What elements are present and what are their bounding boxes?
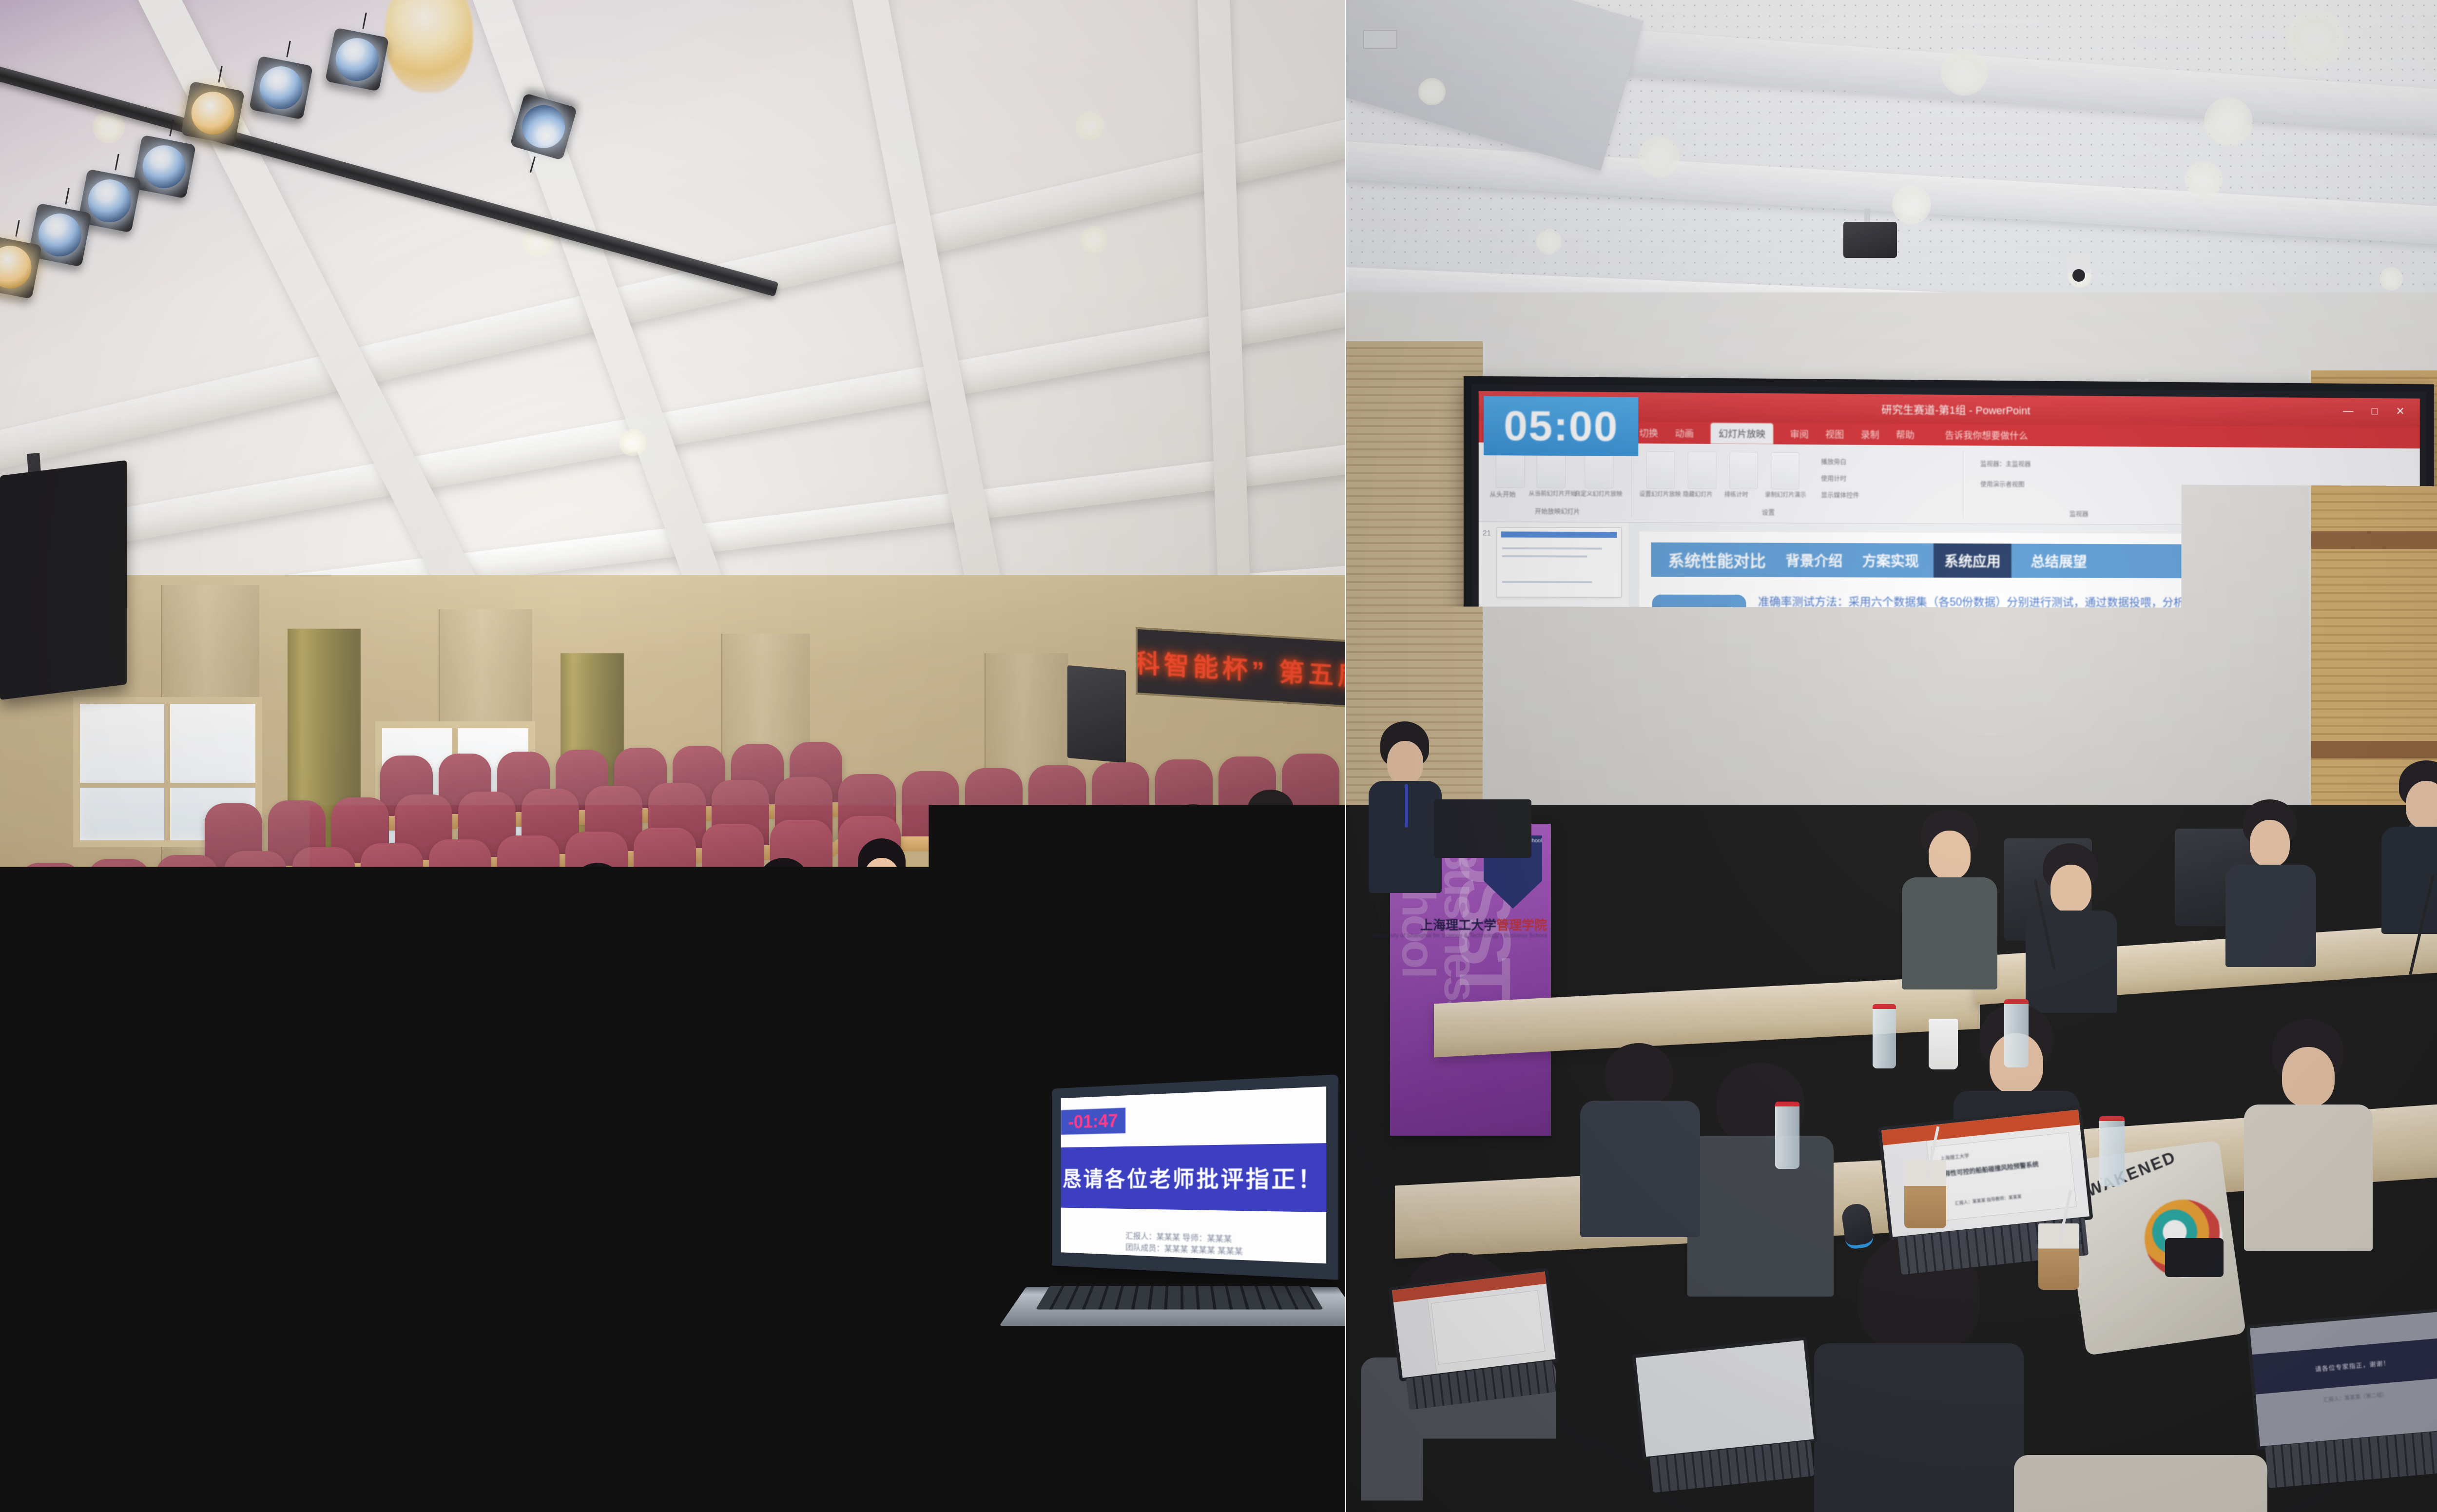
btn-from-current[interactable] (1537, 451, 1566, 488)
ceiling-vent (1363, 30, 1397, 49)
label-setup-show: 设置幻灯片放映 (1639, 490, 1681, 499)
ceiling-downlight (1536, 229, 1562, 254)
led-scrolling-banner: “电科智能杯” 第五届上 (1136, 627, 1345, 708)
btn-custom-show[interactable] (1585, 451, 1613, 488)
laptop-screen[interactable]: -01:47 恳请各位老师批评指正！ 汇报人：某某某 导师：某某某 团队成员：某… (1061, 1086, 1326, 1263)
check-play-narration[interactable]: 播放旁白 (1821, 456, 1846, 465)
paragraph-body: 采用六个数据集（各50份数据）分别进行测试，通过数据投喂，分析回答结果并计算出准… (1758, 596, 2382, 627)
paragraph-highlight: 准确率提升35%。 (2132, 614, 2221, 627)
svg-text:20%: 20% (2069, 814, 2083, 820)
svg-text:70%: 70% (2069, 725, 2083, 732)
slide-headline-band: 恳请各位老师批评指正！ (1061, 1143, 1326, 1212)
slide-thumbnail-active[interactable] (1497, 687, 1623, 758)
lectern-school-name: 上海理工大学管理学院 (1420, 915, 1547, 933)
label-rehearse-timings: 排练计时 (1724, 490, 1748, 499)
slide-paragraph: 准确率测试方法：采用六个数据集（各50份数据）分别进行测试，通过数据投喂，分析回… (1758, 593, 2398, 630)
branded-cup (79, 1077, 110, 1136)
dataset-card-heading: 六个数据集覆盖了以下事故特征分布： (1663, 663, 2015, 681)
check-presenter-view[interactable]: 使用演示者视图 (1980, 479, 2025, 488)
ribbon-group-monitors: 监视器：主监视器 使用演示者视图 监视器 (1973, 450, 2243, 520)
laptop-screen[interactable] (1392, 1272, 1556, 1378)
composite-screenshot: “电科智能杯” 第五届上 (0, 0, 2437, 1512)
presenter-laptop[interactable]: -01:47 恳请各位老师批评指正！ 汇报人：某某某 导师：某某某 团队成员：某… (1009, 1082, 1331, 1355)
ceiling-downlight (1075, 111, 1104, 140)
slide-headline: 恳请各位老师批评指正！ (1062, 1161, 1324, 1195)
tent-card-label: 评委 (653, 1150, 689, 1175)
countdown-timer: -01:47 (1061, 1108, 1125, 1135)
laptop-lid: -01:47 恳请各位老师批评指正！ 汇报人：某某某 导师：某某某 团队成员：某… (1052, 1074, 1338, 1280)
judge-tent-card: 评委 (629, 1131, 714, 1194)
nav-item-summary: 总结展望 (2031, 551, 2087, 571)
panel-divider (1345, 0, 1346, 1512)
svg-text:50%: 50% (2069, 761, 2083, 768)
thumb-number-21: 21 (1483, 529, 1491, 537)
dataset-item: 整体数据：呈现时空（2015-2021年）、环境（天气）、地理（省市至水域）的层… (1663, 774, 2015, 803)
water-bottle (5, 1063, 33, 1141)
led-banner-text: “电科智能杯” 第五届上 (1136, 640, 1345, 695)
tab-animations[interactable]: 动画 (1675, 426, 1694, 439)
tab-transitions[interactable]: 切换 (1639, 426, 1658, 440)
legend-deepseek: DeepSeek准确率 (2308, 775, 2363, 785)
countdown-value: 05:00 (1504, 401, 1618, 451)
tent-card-label: 评委 (824, 1171, 860, 1196)
group-name-start-show: 开始放映幻灯片 (1535, 506, 1580, 516)
lectern-school-name-en: University of Shanghai for Science & Tec… (1373, 932, 1547, 939)
paper-cup (207, 1094, 235, 1145)
laptop-brand-logo: DELL (1155, 1258, 1179, 1266)
label-record-show: 录制幻灯片演示 (1765, 490, 1806, 499)
btn-from-beginning[interactable] (1496, 450, 1525, 488)
water-bottle (1775, 1102, 1799, 1169)
nav-item-application: 系统应用 (1934, 543, 2011, 579)
btn-hide-slide[interactable] (1688, 452, 1717, 489)
security-camera-icon (2068, 253, 2090, 273)
svg-text:40%: 40% (2069, 778, 2083, 785)
svg-text:90%: 90% (2069, 690, 2083, 697)
ribbon-group-start-show: 从头开始 从当前幻灯片开始 自定义幻灯片放映 开始放映幻灯片 (1487, 447, 1632, 517)
tab-help[interactable]: 帮助 (1896, 428, 1915, 441)
thumb-number-23: 23 (1483, 689, 1491, 698)
field-monitor[interactable]: 监视器：主监视器 (1980, 458, 2031, 468)
ceiling-downlight (1892, 185, 1931, 224)
dataset-item: 天气类型：涵盖小雨、多云、雾三类环境条件。 (1663, 754, 2015, 769)
check-use-timings[interactable]: 使用计时 (1821, 473, 1846, 482)
group-name-monitors: 监视器 (2070, 508, 2089, 518)
label-custom-show: 自定义幻灯片放映 (1575, 489, 1623, 498)
window-controls[interactable]: — □ ✕ (2343, 405, 2412, 418)
wall-tv-display (0, 460, 127, 700)
search-box[interactable]: 告诉我你想要做什么 (1945, 428, 2028, 442)
tent-card-label: 评委 (145, 1089, 181, 1115)
water-bottle (2099, 1116, 2125, 1186)
ceiling-projector (1843, 222, 1897, 258)
ceiling-downlight (619, 429, 646, 456)
ceiling-downlight (2185, 161, 2223, 199)
label-from-beginning: 从头开始 (1489, 489, 1515, 499)
tab-review[interactable]: 审阅 (1790, 427, 1809, 440)
ceiling-downlight (2379, 267, 2403, 291)
judge-tent-card: 评委 (122, 1072, 204, 1132)
nav-title: 系统性能对比 (1668, 548, 1766, 572)
dataset-item: 时间跨度：从2015年至2021年（如数据集4:2017年、数据集2:2020年… (1663, 687, 2015, 716)
judge-tent-card: 评委 (453, 1110, 537, 1171)
audience-laptop-2[interactable]: 请各位专家指正，谢谢！ 汇报人：某某某（第二组） (2246, 1307, 2437, 1485)
presentation-countdown-overlay: 05:00 (1484, 396, 1638, 456)
audience-laptop-4[interactable] (1632, 1337, 1820, 1491)
label-from-current: 从当前幻灯片开始 (1528, 489, 1576, 498)
laptop-screen[interactable]: 请各位专家指正，谢谢！ 汇报人：某某某（第二组） (2250, 1311, 2437, 1447)
coffee-cup (1904, 1160, 1946, 1228)
check-show-media-controls[interactable]: 显示媒体控件 (1821, 490, 1859, 499)
nav-item-background: 背景介绍 (1785, 550, 1842, 571)
chart-title: 性能对比图 - 准确率 (2051, 655, 2401, 669)
left-photo-panel: “电科智能杯” 第五届上 (0, 0, 1345, 1512)
laptop-screen[interactable] (1636, 1340, 1814, 1457)
water-bottle (736, 1121, 764, 1200)
btn-setup-show[interactable] (1646, 451, 1675, 489)
ceiling-downlight (1639, 136, 1680, 177)
slide-section-nav: 系统性能对比 背景介绍 方案实现 系统应用 总结展望 (1651, 543, 2330, 579)
ceiling-downlight (93, 111, 125, 143)
laptop-lid: 请各位专家指正，谢谢！ 汇报人：某某某（第二组） (2246, 1307, 2437, 1450)
laptop2-headline: 请各位专家指正，谢谢！ (2315, 1358, 2390, 1374)
svg-text:30%: 30% (2069, 796, 2083, 803)
tab-record[interactable]: 录制 (1861, 427, 1879, 441)
svg-text:80%: 80% (2069, 708, 2083, 715)
right-photo-panel: 福 研究生赛道-第1组 - PowerPoint — □ ✕ 设计 切换 动画 … (1346, 0, 2437, 1512)
paragraph-lead: 准确率测试方法： (1758, 595, 1849, 608)
audience-laptop-3[interactable] (1388, 1268, 1563, 1408)
water-bottle (400, 1087, 427, 1165)
coffee-cup (2038, 1223, 2079, 1290)
window-title: 研究生赛道-第1组 - PowerPoint (1881, 401, 2030, 418)
btn-rehearse-timings[interactable] (1729, 452, 1758, 489)
ceiling-downlight (2287, 10, 2344, 67)
slide-tag-label: 定量分析 (1663, 606, 1736, 631)
ceiling-downlight (1080, 226, 1107, 253)
tent-card-label: 评委 (477, 1128, 513, 1153)
tent-card-label: 评委 (310, 1108, 347, 1133)
label-hide-slide: 隐藏幻灯片 (1683, 490, 1713, 498)
water-bottle (565, 1102, 594, 1181)
water-bottle (1873, 1004, 1896, 1068)
slide-thumbnail[interactable] (1497, 607, 1622, 677)
slide-tag-badge: 定量分析 (1652, 595, 1746, 642)
dataset-item: 地理层级：从省市到微观区域（长江通州沙东水道、东海海域、玉环沿海水域），并涉及广… (1663, 720, 2015, 750)
ribbon-group-setup: 设置幻灯片放映 隐藏幻灯片 排练计时 录制幻灯片演示 播放旁白 使用计时 显示媒… (1638, 448, 1963, 519)
svg-text:10%: 10% (2069, 831, 2083, 838)
thumb-number-22: 22 (1483, 609, 1491, 617)
ceiling-downlight (1418, 78, 1446, 105)
btn-record-show[interactable] (1771, 452, 1799, 490)
ceiling-downlight (1941, 49, 1988, 96)
tab-view[interactable]: 视图 (1825, 427, 1844, 441)
paper-cup (1929, 1019, 1958, 1069)
ceiling-downlight (2204, 97, 2253, 146)
phone-on-desk[interactable] (2165, 1238, 2224, 1277)
nav-item-implementation: 方案实现 (1862, 550, 1919, 570)
group-name-setup: 设置 (1762, 507, 1775, 516)
water-bottle (2004, 999, 2029, 1067)
judge-tent-card: 评委 (288, 1090, 369, 1151)
water-bottle (239, 1072, 266, 1150)
slide-thumbnail[interactable] (1497, 527, 1622, 597)
laptop-lid (1632, 1337, 1818, 1461)
lectern-laptop[interactable] (1434, 799, 1531, 858)
laptop-keyboard[interactable] (1036, 1286, 1323, 1309)
svg-text:60%: 60% (2069, 743, 2083, 750)
svg-text:100%: 100% (2065, 673, 2083, 679)
chart-annotation: 综合准确率 (2339, 739, 2377, 751)
tab-slideshow[interactable]: 幻灯片放映 (1711, 423, 1774, 444)
legend-shippingsafety: ShippingSafety准确率 (2315, 791, 2384, 801)
